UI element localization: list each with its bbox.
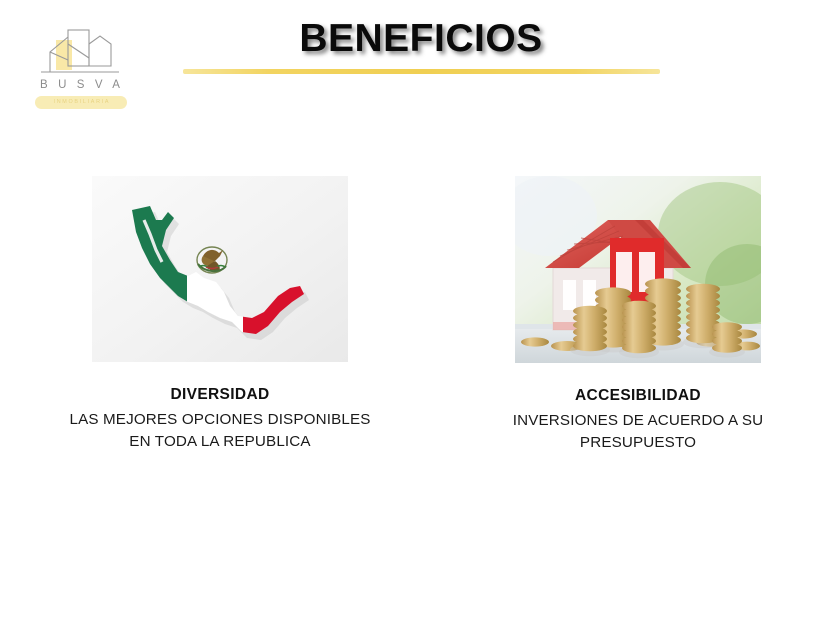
benefit-body-line: INVERSIONES DE ACUERDO A SU <box>452 410 824 432</box>
mexico-map-flag-image <box>92 176 348 362</box>
benefit-body-diversidad: LAS MEJORES OPCIONES DISPONIBLES EN TODA… <box>16 409 424 452</box>
house-with-coin-stacks-image <box>515 176 761 363</box>
benefit-body-line: EN TODA LA REPUBLICA <box>16 431 424 453</box>
slide-beneficios: B U S V A Inmobiliaria BENEFICIOS <box>0 0 840 630</box>
benefit-column-diversidad: DIVERSIDAD LAS MEJORES OPCIONES DISPONIB… <box>16 176 424 452</box>
benefit-heading-accesibilidad: ACCESIBILIDAD <box>452 387 824 405</box>
benefit-body-accesibilidad: INVERSIONES DE ACUERDO A SU PRESUPUESTO <box>452 410 824 453</box>
page-title: BENEFICIOS <box>180 19 662 60</box>
benefit-heading-diversidad: DIVERSIDAD <box>16 386 424 404</box>
benefit-column-accesibilidad: ACCESIBILIDAD INVERSIONES DE ACUERDO A S… <box>452 176 824 453</box>
busva-logo[interactable]: B U S V A Inmobiliaria <box>30 26 130 118</box>
logo-tagline-text: Inmobiliaria <box>30 96 132 109</box>
logo-brand-text: B U S V A <box>30 79 130 91</box>
title-underline-rule <box>183 69 660 74</box>
benefit-body-line: LAS MEJORES OPCIONES DISPONIBLES <box>16 409 424 431</box>
benefit-body-line: PRESUPUESTO <box>452 432 824 454</box>
buildings-outline-icon <box>30 26 130 82</box>
